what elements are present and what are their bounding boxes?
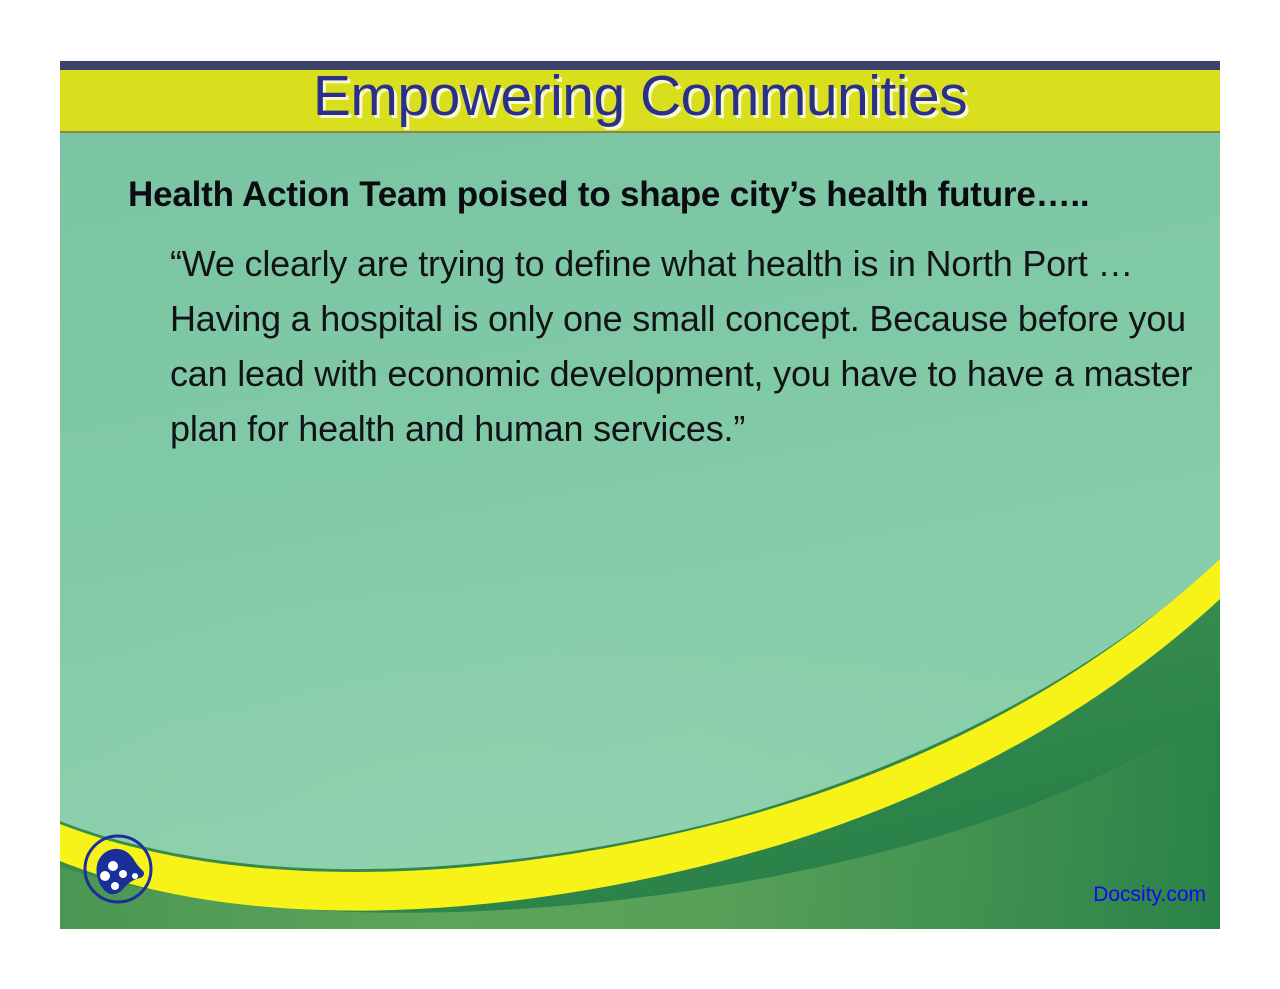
slide-page: Empowering Communities Health Action Tea… xyxy=(0,0,1280,989)
presentation-slide: Empowering Communities Health Action Tea… xyxy=(60,61,1220,929)
docsity-watermark: Docsity.com xyxy=(1093,883,1206,907)
slide-title: Empowering Communities xyxy=(60,66,1220,126)
county-map-badge-icon xyxy=(79,829,157,907)
title-banner-underline xyxy=(60,131,1220,133)
headline-text: Health Action Team poised to shape city’… xyxy=(60,161,1220,228)
quote-text: “We clearly are trying to define what he… xyxy=(60,236,1220,456)
slide-body: Health Action Team poised to shape city’… xyxy=(60,161,1220,456)
